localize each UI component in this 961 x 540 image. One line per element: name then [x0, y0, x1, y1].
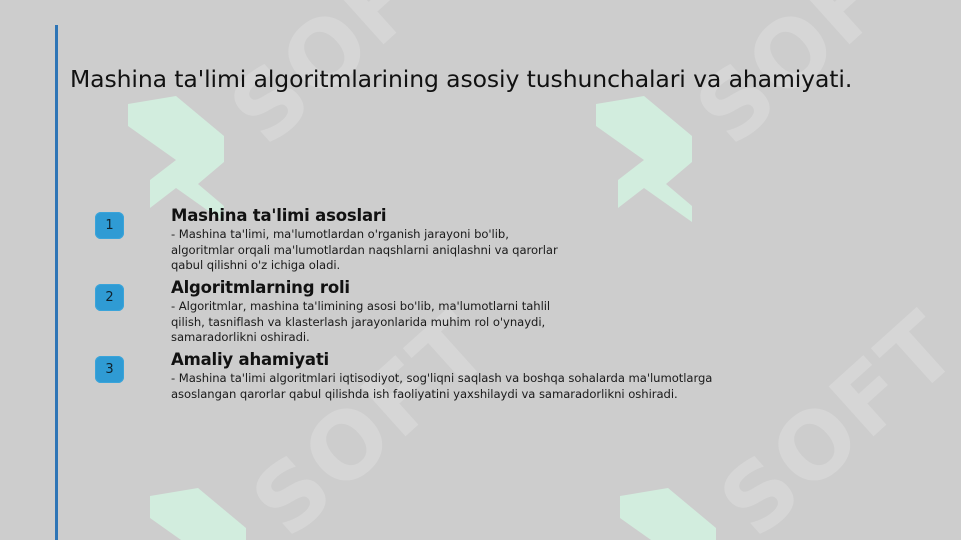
slide-canvas: SOFT SOFT SOFT SOFT Mashina ta'limi algo… — [0, 0, 961, 540]
list-item-heading: Amaliy ahamiyati — [171, 349, 871, 370]
step-number-badge: 1 — [95, 212, 124, 239]
list-item-text: Mashina ta'limi asoslari - Mashina ta'li… — [171, 205, 671, 274]
list-item-body: - Algoritmlar, mashina ta'limining asosi… — [171, 299, 671, 346]
step-number-badge: 2 — [95, 284, 124, 311]
step-number-badge: 3 — [95, 356, 124, 383]
list-item-heading: Mashina ta'limi asoslari — [171, 205, 671, 226]
list-item-body: - Mashina ta'limi, ma'lumotlardan o'rgan… — [171, 227, 671, 274]
content-list: 1 Mashina ta'limi asoslari - Mashina ta'… — [0, 0, 961, 540]
list-item-text: Amaliy ahamiyati - Mashina ta'limi algor… — [171, 349, 871, 402]
list-item-heading: Algoritmlarning roli — [171, 277, 671, 298]
list-item-text: Algoritmlarning roli - Algoritmlar, mash… — [171, 277, 671, 346]
list-item-body: - Mashina ta'limi algoritmlari iqtisodiy… — [171, 371, 871, 402]
